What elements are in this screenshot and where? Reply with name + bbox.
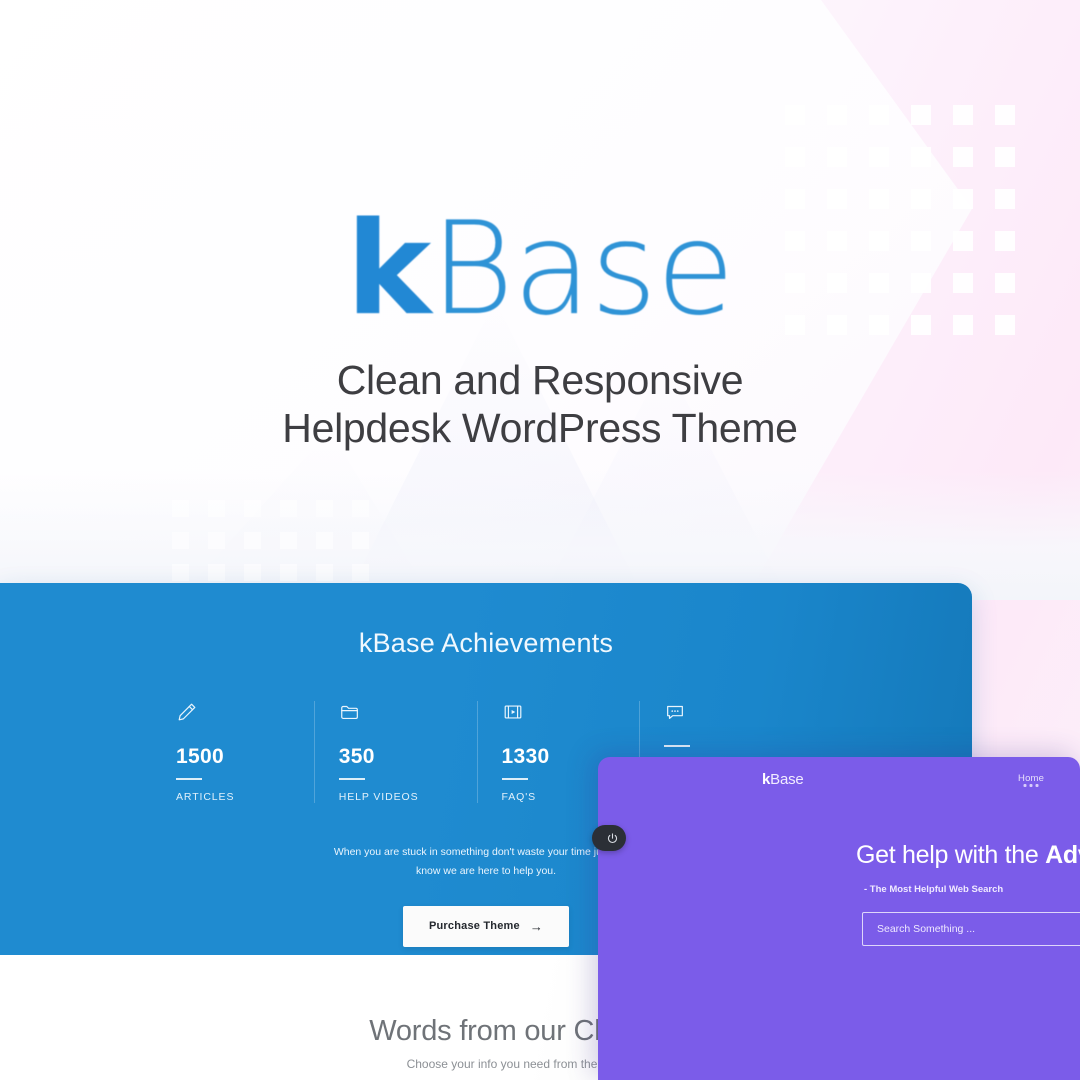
purchase-theme-label: Purchase Theme [429, 920, 520, 932]
theme-preview-panel: kBase Home Blog Get help with the Advanc… [598, 757, 1080, 1080]
preview-headline-normal: Get help with the [856, 841, 1045, 869]
dot-square [352, 500, 369, 517]
dot-square [244, 500, 261, 517]
comment-icon [664, 701, 802, 731]
stat-underline [664, 745, 690, 747]
hero-tagline-line-1: Clean and Responsive [0, 356, 1080, 404]
stat-item-articles: 1500 ARTICLES [176, 701, 314, 803]
preview-search-placeholder: Search Something ... [877, 923, 975, 935]
dot-square [244, 564, 261, 581]
nav-active-dots-icon [1024, 784, 1039, 787]
dot-square [316, 500, 333, 517]
stat-item-help-videos: 350 HELP VIDEOS [314, 701, 477, 803]
brand-logo: kBase [0, 206, 1080, 334]
dot-square [280, 564, 297, 581]
dot-square [352, 532, 369, 549]
dot-square [244, 532, 261, 549]
dot-square [280, 532, 297, 549]
dot-square [316, 564, 333, 581]
dot-square [316, 532, 333, 549]
stat-underline [339, 778, 365, 780]
poster-stage: kBase Clean and Responsive Helpdesk Word… [0, 0, 1080, 1080]
stat-underline [176, 778, 202, 780]
preview-logo-base: Base [770, 771, 803, 788]
hero-section: kBase Clean and Responsive Helpdesk Word… [0, 0, 1080, 453]
dot-square [172, 532, 189, 549]
preview-header: kBase Home Blog [598, 757, 1080, 803]
purchase-theme-button[interactable]: Purchase Theme → [403, 906, 569, 947]
dot-square [280, 500, 297, 517]
dot-square [208, 564, 225, 581]
folder-icon [339, 701, 477, 731]
preview-headline: Get help with the Advanced [856, 841, 1080, 870]
dot-square [172, 500, 189, 517]
brand-logo-k: k [346, 195, 430, 344]
nav-item-home-label: Home [1018, 773, 1044, 784]
pencil-icon [176, 701, 314, 731]
preview-hero: Get help with the Advanced - The Most He… [856, 841, 1080, 895]
nav-item-home[interactable]: Home [1018, 773, 1044, 784]
stat-label: ARTICLES [176, 791, 314, 803]
dot-square [172, 564, 189, 581]
brand-logo-base: Base [430, 195, 734, 344]
preview-search-input[interactable]: Search Something ... [862, 912, 1080, 946]
stat-label: HELP VIDEOS [339, 791, 477, 803]
hero-tagline: Clean and Responsive Helpdesk WordPress … [0, 356, 1080, 453]
stat-underline [502, 778, 528, 780]
preview-logo-k: k [762, 771, 770, 788]
decorative-dot-grid-bottom-left [172, 500, 388, 596]
power-toggle-pill[interactable] [592, 825, 626, 851]
hero-tagline-line-2: Helpdesk WordPress Theme [0, 404, 1080, 452]
preview-brand-logo[interactable]: kBase [762, 771, 804, 788]
stat-value: 350 [339, 745, 477, 769]
dot-square [208, 532, 225, 549]
stat-value: 1500 [176, 745, 314, 769]
preview-headline-bold: Advanced [1045, 841, 1080, 869]
video-icon [502, 701, 640, 731]
dot-square [208, 500, 225, 517]
power-icon [606, 832, 619, 845]
achievements-title: kBase Achievements [0, 628, 972, 659]
preview-nav: Home Blog [1018, 773, 1080, 784]
preview-subline: - The Most Helpful Web Search [864, 884, 1080, 895]
dot-square [352, 564, 369, 581]
background-bottom-fade [0, 470, 1080, 600]
arrow-right-icon: → [530, 919, 543, 934]
